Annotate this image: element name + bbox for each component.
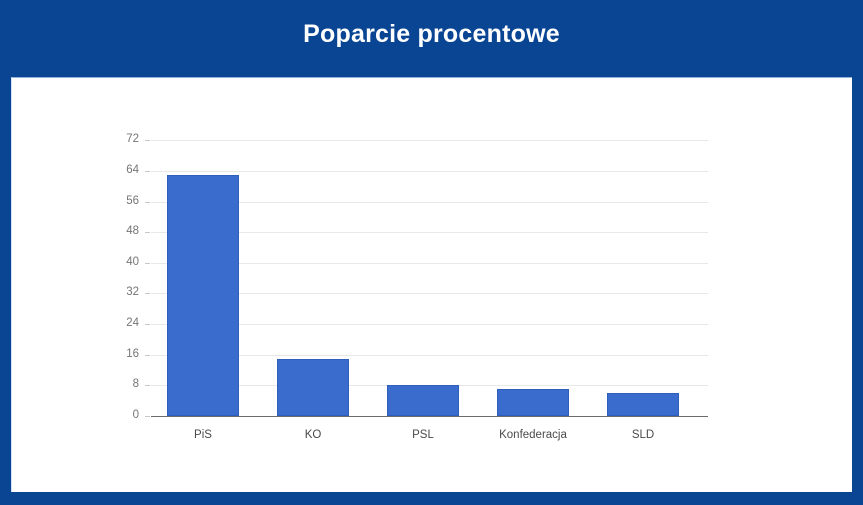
bar-psl[interactable] bbox=[387, 385, 459, 416]
x-axis-category-label: PiS bbox=[148, 430, 258, 442]
y-axis-tick-label: 32 bbox=[99, 287, 139, 299]
x-axis-category-label: Konfederacja bbox=[478, 430, 588, 442]
x-axis-line bbox=[151, 416, 708, 417]
y-axis-tick-label: 24 bbox=[99, 318, 139, 330]
bar-chart-plot: 081624324048566472PiSKOPSLKonfederacjaSL… bbox=[12, 78, 853, 493]
y-axis-tick-label: 48 bbox=[99, 226, 139, 238]
bar-konfederacja[interactable] bbox=[497, 389, 569, 416]
y-axis-tick-label: 64 bbox=[99, 165, 139, 177]
y-tick-mark bbox=[145, 140, 150, 141]
y-tick-mark bbox=[145, 263, 150, 264]
y-tick-mark bbox=[145, 385, 150, 386]
y-tick-mark bbox=[145, 293, 150, 294]
y-tick-mark bbox=[145, 171, 150, 172]
page-title: Poparcie procentowe bbox=[303, 22, 560, 55]
gridline bbox=[151, 140, 708, 141]
bar-sld[interactable] bbox=[607, 393, 679, 416]
chart-window: Poparcie procentowe 081624324048566472Pi… bbox=[0, 0, 863, 505]
bar-ko[interactable] bbox=[277, 359, 349, 416]
gridline bbox=[151, 171, 708, 172]
y-tick-mark bbox=[145, 232, 150, 233]
y-tick-mark bbox=[145, 355, 150, 356]
y-tick-mark bbox=[145, 324, 150, 325]
x-axis-category-label: PSL bbox=[368, 430, 478, 442]
y-tick-mark bbox=[145, 202, 150, 203]
bar-pis[interactable] bbox=[167, 175, 239, 416]
x-axis-category-label: SLD bbox=[588, 430, 698, 442]
chart-header-bar: Poparcie procentowe bbox=[0, 0, 863, 77]
y-axis-tick-label: 16 bbox=[99, 349, 139, 361]
y-axis-tick-label: 40 bbox=[99, 257, 139, 269]
chart-card: 081624324048566472PiSKOPSLKonfederacjaSL… bbox=[11, 77, 852, 492]
y-axis-tick-label: 8 bbox=[99, 379, 139, 391]
y-axis-tick-label: 56 bbox=[99, 196, 139, 208]
y-axis-tick-label: 72 bbox=[99, 134, 139, 146]
x-axis-category-label: KO bbox=[258, 430, 368, 442]
y-axis-tick-label: 0 bbox=[99, 410, 139, 422]
y-tick-mark bbox=[145, 416, 150, 417]
